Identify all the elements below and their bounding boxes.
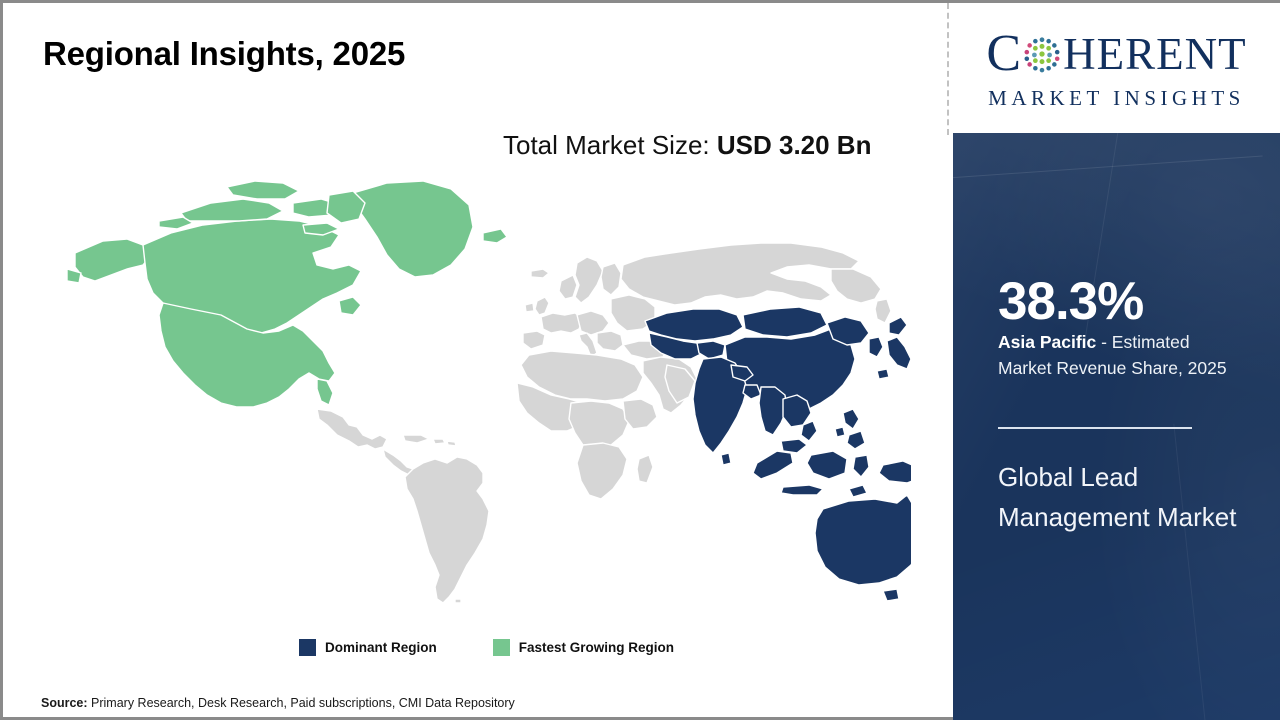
vertical-dashed-divider [947,3,949,135]
highlight-panel: 38.3% Asia Pacific - Estimated Market Re… [953,133,1280,720]
map-fastest-growing-regions [67,181,507,407]
source-text: Primary Research, Desk Research, Paid su… [88,696,515,710]
legend-swatch-fastest-growing [493,639,510,656]
market-name: Global Lead Management Market [998,457,1246,537]
legend-item-dominant: Dominant Region [299,639,437,656]
source-label: Source: [41,696,88,710]
legend-swatch-dominant [299,639,316,656]
page-title: Regional Insights, 2025 [43,35,405,73]
world-map-svg [31,173,911,613]
share-percentage: 38.3% [998,275,1143,328]
legend-label-fastest-growing: Fastest Growing Region [519,640,674,655]
panel-divider [998,427,1192,429]
share-description: Asia Pacific - Estimated Market Revenue … [998,329,1238,382]
logo-letter-c: C [986,28,1022,80]
infographic-slide: Regional Insights, 2025 Total Market Siz… [0,0,1280,720]
logo-wordmark: C [986,28,1246,80]
source-note: Source: Primary Research, Desk Research,… [41,696,515,710]
market-size-prefix: Total Market Size: [503,130,717,160]
legend-label-dominant: Dominant Region [325,640,437,655]
panel-streak-1 [953,155,1263,179]
logo-letters-rest: HERENT [1063,32,1246,77]
legend-item-fastest-growing: Fastest Growing Region [493,639,674,656]
share-region-name: Asia Pacific [998,332,1096,352]
total-market-size: Total Market Size: USD 3.20 Bn [503,127,903,164]
company-logo: C [953,6,1280,133]
world-map [31,173,911,613]
map-legend: Dominant Region Fastest Growing Region [299,639,674,656]
map-dominant-regions [645,307,911,601]
globe-dots-icon [1023,35,1061,73]
market-size-value: USD 3.20 Bn [717,130,872,160]
logo-tagline: MARKET INSIGHTS [988,86,1245,111]
